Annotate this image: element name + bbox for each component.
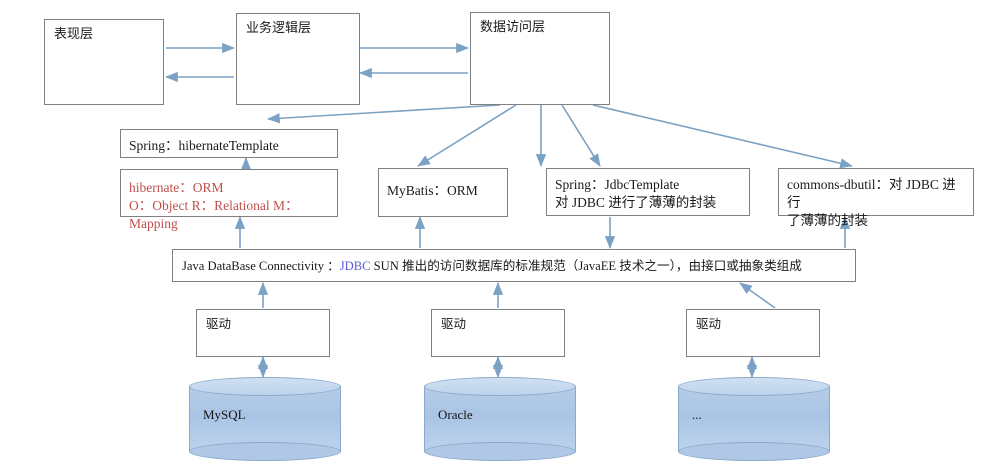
db-other-bottom	[678, 442, 830, 461]
node-driver-mysql[interactable]: 驱动	[196, 309, 330, 357]
db-mysql-top	[189, 377, 341, 396]
arrow-dao-to-commons-dbutil	[593, 105, 852, 166]
node-driver-other[interactable]: 驱动	[686, 309, 820, 357]
node-commons-dbutil[interactable]: commons-dbutil：对 JDBC 进行 了薄薄的封装	[778, 168, 974, 216]
node-spring-jdbctemplate[interactable]: Spring：JdbcTemplate 对 JDBC 进行了薄薄的封装	[546, 168, 750, 216]
node-presentation-layer-label: 表现层	[54, 26, 158, 43]
node-db-oracle-label: Oracle	[438, 407, 473, 423]
db-oracle-bottom	[424, 442, 576, 461]
node-spring-hibernate-template[interactable]: Spring：hibernateTemplate	[120, 129, 338, 158]
jdbc-keyword: JDBC	[340, 259, 371, 273]
db-other-top	[678, 377, 830, 396]
db-oracle-top	[424, 377, 576, 396]
node-mybatis[interactable]: MyBatis：ORM	[378, 168, 508, 217]
node-business-layer-label: 业务逻辑层	[246, 20, 354, 37]
node-spring-jdbctemplate-label: Spring：JdbcTemplate 对 JDBC 进行了薄薄的封装	[555, 176, 744, 212]
node-driver-oracle[interactable]: 驱动	[431, 309, 565, 357]
node-jdbc-spec-text: Java DataBase Connectivity ：JDBC SUN 推出的…	[182, 258, 850, 275]
node-db-other[interactable]: ...	[678, 377, 830, 461]
node-commons-dbutil-label: commons-dbutil：对 JDBC 进行 了薄薄的封装	[787, 176, 968, 229]
arrow-dao-to-jdbctemplate-b	[562, 105, 600, 166]
node-driver-oracle-label: 驱动	[441, 316, 559, 333]
node-jdbc-spec-bar[interactable]: Java DataBase Connectivity ：JDBC SUN 推出的…	[172, 249, 856, 282]
node-dao-layer-label: 数据访问层	[480, 19, 604, 36]
diagram-canvas: 表现层 业务逻辑层 数据访问层 Spring：hibernateTemplate…	[0, 0, 1000, 469]
node-driver-other-label: 驱动	[696, 316, 814, 333]
node-driver-mysql-label: 驱动	[206, 316, 324, 333]
node-mybatis-label: MyBatis：ORM	[387, 182, 502, 200]
arrow-dao-to-spring-hibernate	[268, 105, 500, 119]
arrow-dao-to-mybatis	[418, 105, 516, 166]
node-db-mysql-label: MySQL	[203, 407, 246, 423]
arrow-driver3-to-jdbc	[740, 283, 775, 308]
node-db-mysql[interactable]: MySQL	[189, 377, 341, 461]
node-spring-hibernate-template-label: Spring：hibernateTemplate	[129, 137, 332, 155]
node-presentation-layer[interactable]: 表现层	[44, 19, 164, 105]
db-mysql-bottom	[189, 442, 341, 461]
node-dao-layer[interactable]: 数据访问层	[470, 12, 610, 105]
jdbc-prefix: Java DataBase Connectivity ：	[182, 259, 340, 273]
node-db-other-label: ...	[692, 407, 702, 423]
node-hibernate-orm[interactable]: hibernate：ORM O：Object R：Relational M：Ma…	[120, 169, 338, 217]
jdbc-suffix: SUN 推出的访问数据库的标准规范（JavaEE 技术之一），由接口或抽象类组成	[371, 259, 802, 273]
node-hibernate-orm-label: hibernate：ORM O：Object R：Relational M：Ma…	[129, 179, 332, 232]
node-db-oracle[interactable]: Oracle	[424, 377, 576, 461]
node-business-layer[interactable]: 业务逻辑层	[236, 13, 360, 105]
